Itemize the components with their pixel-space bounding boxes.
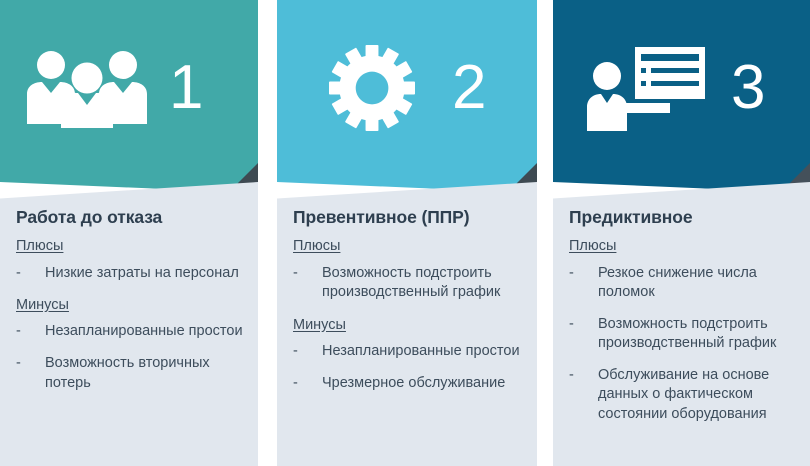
maintenance-strategy-infographic: 1 Работа до отказа Плюсы - Низкие затрат… — [0, 0, 810, 466]
card-2-number: 2 — [452, 57, 487, 119]
bullet-dash-icon: - — [569, 366, 574, 386]
bullet-dash-icon: - — [569, 264, 574, 284]
list-item-text: Возможность подстроить производственный … — [598, 316, 776, 352]
people-group-icon — [24, 48, 150, 128]
card-3-title: Предиктивное — [569, 207, 796, 227]
list-item-text: Резкое снижение числа поломок — [598, 265, 757, 301]
list-item: - Незапланированные простои — [291, 342, 523, 362]
card-3[interactable]: 3 Предиктивное Плюсы - Резкое снижение ч… — [553, 0, 810, 466]
bullet-dash-icon: - — [16, 322, 21, 342]
list-item: - Чрезмерное обслуживание — [291, 374, 523, 394]
bullet-dash-icon: - — [16, 354, 21, 374]
list-item-text: Возможность подстроить производственный … — [322, 265, 500, 301]
bullet-dash-icon: - — [16, 264, 21, 284]
card-2-body: Превентивное (ППР) Плюсы - Возможность п… — [277, 182, 537, 466]
card-1-pros-list: - Низкие затраты на персонал — [14, 264, 244, 284]
card-2-cons-list: - Незапланированные простои - Чрезмерное… — [291, 342, 523, 393]
list-item-text: Чрезмерное обслуживание — [322, 375, 505, 391]
card-2-header: 2 — [277, 0, 537, 193]
bullet-dash-icon: - — [293, 342, 298, 362]
list-item-text: Низкие затраты на персонал — [45, 265, 239, 281]
list-item-text: Обслуживание на основе данных о фактичес… — [598, 367, 769, 422]
list-item: - Возможность подстроить производственны… — [567, 315, 796, 354]
gear-icon — [329, 45, 415, 131]
list-item-text: Незапланированные простои — [322, 343, 520, 359]
list-item: - Обслуживание на основе данных о фактич… — [567, 366, 796, 425]
card-2-header-content: 2 — [277, 0, 537, 176]
card-3-section-pros-heading: Плюсы — [569, 238, 796, 255]
presenter-board-icon — [585, 45, 705, 131]
card-3-body: Предиктивное Плюсы - Резкое снижение чис… — [553, 182, 810, 466]
bullet-dash-icon: - — [293, 264, 298, 284]
card-3-header: 3 — [553, 0, 810, 193]
card-1-title: Работа до отказа — [16, 207, 244, 227]
list-item: - Незапланированные простои — [14, 322, 244, 342]
card-1-header-content: 1 — [0, 0, 258, 176]
card-1-number: 1 — [169, 57, 204, 119]
card-3-pros-list: - Резкое снижение числа поломок - Возмож… — [567, 264, 796, 425]
list-item: - Возможность вторичных потерь — [14, 354, 244, 393]
card-2-section-pros-heading: Плюсы — [293, 238, 523, 255]
list-item: - Резкое снижение числа поломок — [567, 264, 796, 303]
card-2-pros-list: - Возможность подстроить производственны… — [291, 264, 523, 303]
list-item: - Низкие затраты на персонал — [14, 264, 244, 284]
card-1-section-cons-heading: Минусы — [16, 297, 244, 314]
card-3-number: 3 — [731, 57, 766, 119]
card-1-body: Работа до отказа Плюсы - Низкие затраты … — [0, 182, 258, 466]
bullet-dash-icon: - — [569, 315, 574, 335]
card-1-section-pros-heading: Плюсы — [16, 238, 244, 255]
list-item: - Возможность подстроить производственны… — [291, 264, 523, 303]
card-2[interactable]: 2 Превентивное (ППР) Плюсы - Возможность… — [277, 0, 537, 466]
list-item-text: Возможность вторичных потерь — [45, 355, 210, 391]
card-2-section-cons-heading: Минусы — [293, 317, 523, 334]
card-1[interactable]: 1 Работа до отказа Плюсы - Низкие затрат… — [0, 0, 258, 466]
card-2-title: Превентивное (ППР) — [293, 207, 523, 227]
bullet-dash-icon: - — [293, 374, 298, 394]
list-item-text: Незапланированные простои — [45, 323, 243, 339]
card-1-cons-list: - Незапланированные простои - Возможност… — [14, 322, 244, 393]
card-3-header-content: 3 — [553, 0, 810, 176]
card-1-header: 1 — [0, 0, 258, 193]
